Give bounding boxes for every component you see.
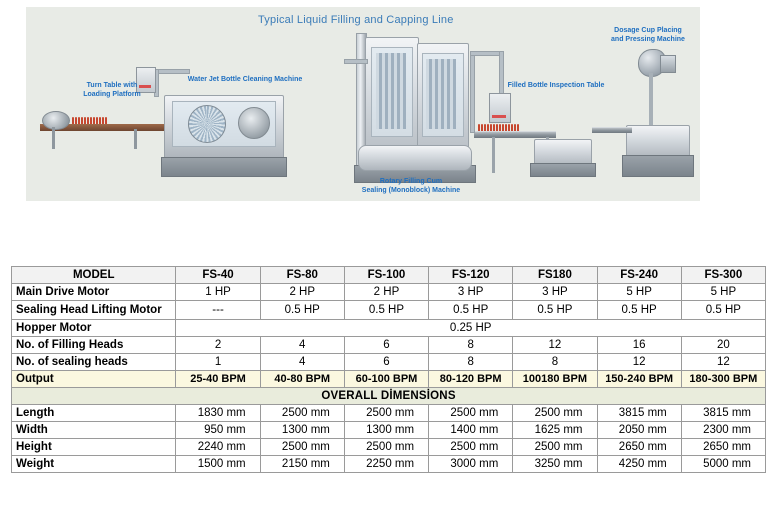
row-label-sealing-head-lifting-motor: Sealing Head Lifting Motor <box>12 301 176 320</box>
header-model-fs-80: FS-80 <box>260 267 344 284</box>
cell-height-fs180: 2500 mm <box>513 439 597 456</box>
cell-height-fs-300: 2650 mm <box>681 439 765 456</box>
cell-filling-heads-fs-300: 20 <box>681 337 765 354</box>
table-header-row: MODEL FS-40 FS-80 FS-100 FS-120 FS180 FS… <box>12 267 766 284</box>
cell-length-fs-80: 2500 mm <box>260 405 344 422</box>
table-row-output: Output 25-40 BPM 40-80 BPM 60-100 BPM 80… <box>12 371 766 388</box>
conveyor-leg-1 <box>492 137 495 173</box>
row-label-output: Output <box>12 371 176 388</box>
row-label-length: Length <box>12 405 176 422</box>
cell-filling-heads-fs180: 12 <box>513 337 597 354</box>
cell-output-fs-40: 25-40 BPM <box>176 371 260 388</box>
cell-sealing-head-lifting-fs-40: --- <box>176 301 260 320</box>
table-row: Width 950 mm 1300 mm 1300 mm 1400 mm 162… <box>12 422 766 439</box>
cell-sealing-heads-fs-240: 12 <box>597 354 681 371</box>
row-label-no-of-filling-heads: No. of Filling Heads <box>12 337 176 354</box>
label-water-jet-cleaner: Water Jet Bottle Cleaning Machine <box>178 75 312 84</box>
header-model-fs-120: FS-120 <box>429 267 513 284</box>
cell-filling-heads-fs-240: 16 <box>597 337 681 354</box>
table-row: Main Drive Motor 1 HP 2 HP 2 HP 3 HP 3 H… <box>12 284 766 301</box>
cell-main-drive-motor-fs-240: 5 HP <box>597 284 681 301</box>
cell-height-fs-40: 2240 mm <box>176 439 260 456</box>
table-row: Hopper Motor 0.25 HP <box>12 320 766 337</box>
cell-width-fs-120: 1400 mm <box>429 422 513 439</box>
cell-main-drive-motor-fs-80: 2 HP <box>260 284 344 301</box>
cell-main-drive-motor-fs180: 3 HP <box>513 284 597 301</box>
cell-sealing-head-lifting-fs-100: 0.5 HP <box>344 301 428 320</box>
cell-filling-heads-fs-40: 2 <box>176 337 260 354</box>
header-model-fs-240: FS-240 <box>597 267 681 284</box>
bottle-row-outfeed <box>478 124 519 131</box>
label-dosage-cup-machine: Dosage Cup Placing and Pressing Machine <box>584 26 700 44</box>
table-row: Height 2240 mm 2500 mm 2500 mm 2500 mm 2… <box>12 439 766 456</box>
cleaning-machine-base <box>161 157 287 177</box>
cell-sealing-head-lifting-fs-120: 0.5 HP <box>429 301 513 320</box>
row-label-no-of-sealing-heads: No. of sealing heads <box>12 354 176 371</box>
dosage-cup-chute <box>660 55 676 73</box>
cell-width-fs-100: 1300 mm <box>344 422 428 439</box>
label-inspection-table: Filled Bottle Inspection Table <box>496 81 616 90</box>
cell-length-fs-300: 3815 mm <box>681 405 765 422</box>
cell-sealing-heads-fs-120: 8 <box>429 354 513 371</box>
cell-width-fs-300: 2300 mm <box>681 422 765 439</box>
cell-sealing-head-lifting-fs180: 0.5 HP <box>513 301 597 320</box>
cell-output-fs-300: 180-300 BPM <box>681 371 765 388</box>
inspection-control-panel <box>489 93 511 123</box>
cell-height-fs-80: 2500 mm <box>260 439 344 456</box>
header-model-fs-300: FS-300 <box>681 267 765 284</box>
cell-weight-fs-80: 2150 mm <box>260 456 344 473</box>
row-label-width: Width <box>12 422 176 439</box>
cleaning-machine-rotor <box>188 105 226 143</box>
cell-sealing-heads-fs-40: 1 <box>176 354 260 371</box>
cell-output-fs-80: 40-80 BPM <box>260 371 344 388</box>
cell-sealing-head-lifting-fs-240: 0.5 HP <box>597 301 681 320</box>
cell-output-fs-240: 150-240 BPM <box>597 371 681 388</box>
cell-weight-fs180: 3250 mm <box>513 456 597 473</box>
cell-output-fs180: 100180 BPM <box>513 371 597 388</box>
row-label-main-drive-motor: Main Drive Motor <box>12 284 176 301</box>
cell-height-fs-120: 2500 mm <box>429 439 513 456</box>
monoblock-top-pipe <box>344 59 368 64</box>
cell-filling-heads-fs-100: 6 <box>344 337 428 354</box>
cell-main-drive-motor-fs-120: 3 HP <box>429 284 513 301</box>
cell-weight-fs-100: 2250 mm <box>344 456 428 473</box>
specifications-table-wrapper: MODEL FS-40 FS-80 FS-100 FS-120 FS180 FS… <box>11 266 766 473</box>
label-rotary-filling-monoblock: Rotary Filling Cum Sealing (Monoblock) M… <box>346 177 476 195</box>
monoblock-filling-heads <box>376 53 406 129</box>
table-row: No. of sealing heads 1 4 6 8 8 12 12 <box>12 354 766 371</box>
platform-leg-1 <box>134 129 137 149</box>
header-model: MODEL <box>12 267 176 284</box>
cell-width-fs-40: 950 mm <box>176 422 260 439</box>
table-row: Sealing Head Lifting Motor --- 0.5 HP 0.… <box>12 301 766 320</box>
cell-length-fs-100: 2500 mm <box>344 405 428 422</box>
cell-width-fs-80: 1300 mm <box>260 422 344 439</box>
outfeed-conveyor <box>474 131 556 138</box>
cell-weight-fs-40: 1500 mm <box>176 456 260 473</box>
cleaning-machine-pipe-h <box>154 69 190 74</box>
row-label-hopper-motor: Hopper Motor <box>12 320 176 337</box>
cell-main-drive-motor-fs-300: 5 HP <box>681 284 765 301</box>
inspection-pipe-v <box>470 51 475 133</box>
illustration-title: Typical Liquid Filling and Capping Line <box>258 14 454 26</box>
cell-sealing-heads-fs-300: 12 <box>681 354 765 371</box>
inspection-table-base <box>530 163 596 177</box>
cell-height-fs-100: 2500 mm <box>344 439 428 456</box>
cell-width-fs-240: 2050 mm <box>597 422 681 439</box>
cell-filling-heads-fs-80: 4 <box>260 337 344 354</box>
specifications-table: MODEL FS-40 FS-80 FS-100 FS-120 FS180 FS… <box>11 266 766 473</box>
cell-width-fs180: 1625 mm <box>513 422 597 439</box>
cell-main-drive-motor-fs-40: 1 HP <box>176 284 260 301</box>
turn-table-leg <box>52 127 55 149</box>
inspection-panel-indicator <box>492 115 506 118</box>
dosage-cup-press-body <box>626 125 690 159</box>
cell-sealing-head-lifting-fs-80: 0.5 HP <box>260 301 344 320</box>
bottle-row-infeed <box>72 117 107 124</box>
dosage-cup-stand <box>649 73 653 129</box>
row-label-weight: Weight <box>12 456 176 473</box>
cell-length-fs-40: 1830 mm <box>176 405 260 422</box>
cell-weight-fs-300: 5000 mm <box>681 456 765 473</box>
table-row: Weight 1500 mm 2150 mm 2250 mm 3000 mm 3… <box>12 456 766 473</box>
monoblock-tank <box>358 145 472 171</box>
cell-weight-fs-240: 4250 mm <box>597 456 681 473</box>
turn-table-disc <box>42 111 70 130</box>
cell-sealing-heads-fs180: 8 <box>513 354 597 371</box>
table-row: No. of Filling Heads 2 4 6 8 12 16 20 <box>12 337 766 354</box>
header-model-fs-100: FS-100 <box>344 267 428 284</box>
table-section-row: OVERALL DİMENSİONS <box>12 388 766 405</box>
table-row: Length 1830 mm 2500 mm 2500 mm 2500 mm 2… <box>12 405 766 422</box>
monoblock-sealing-heads <box>426 59 456 129</box>
dosage-cup-conveyor <box>592 127 632 133</box>
process-line-illustration: Typical Liquid Filling and Capping Line <box>26 7 700 201</box>
header-model-fs180: FS180 <box>513 267 597 284</box>
cell-sealing-head-lifting-fs-300: 0.5 HP <box>681 301 765 320</box>
cell-output-fs-100: 60-100 BPM <box>344 371 428 388</box>
cell-length-fs-120: 2500 mm <box>429 405 513 422</box>
label-turn-table: Turn Table with Loading Platform <box>68 81 156 99</box>
cell-hopper-motor-all-models: 0.25 HP <box>176 320 766 337</box>
cell-length-fs180: 2500 mm <box>513 405 597 422</box>
cell-sealing-heads-fs-80: 4 <box>260 354 344 371</box>
cell-sealing-heads-fs-100: 6 <box>344 354 428 371</box>
row-label-height: Height <box>12 439 176 456</box>
cell-weight-fs-120: 3000 mm <box>429 456 513 473</box>
cell-main-drive-motor-fs-100: 2 HP <box>344 284 428 301</box>
dosage-cup-press-base <box>622 155 694 177</box>
section-title-overall-dimensions: OVERALL DİMENSİONS <box>12 388 766 405</box>
cleaning-machine-wheel <box>238 107 270 139</box>
cell-output-fs-120: 80-120 BPM <box>429 371 513 388</box>
header-model-fs-40: FS-40 <box>176 267 260 284</box>
cell-length-fs-240: 3815 mm <box>597 405 681 422</box>
cell-filling-heads-fs-120: 8 <box>429 337 513 354</box>
inspection-pipe-drop <box>499 51 504 99</box>
cell-height-fs-240: 2650 mm <box>597 439 681 456</box>
